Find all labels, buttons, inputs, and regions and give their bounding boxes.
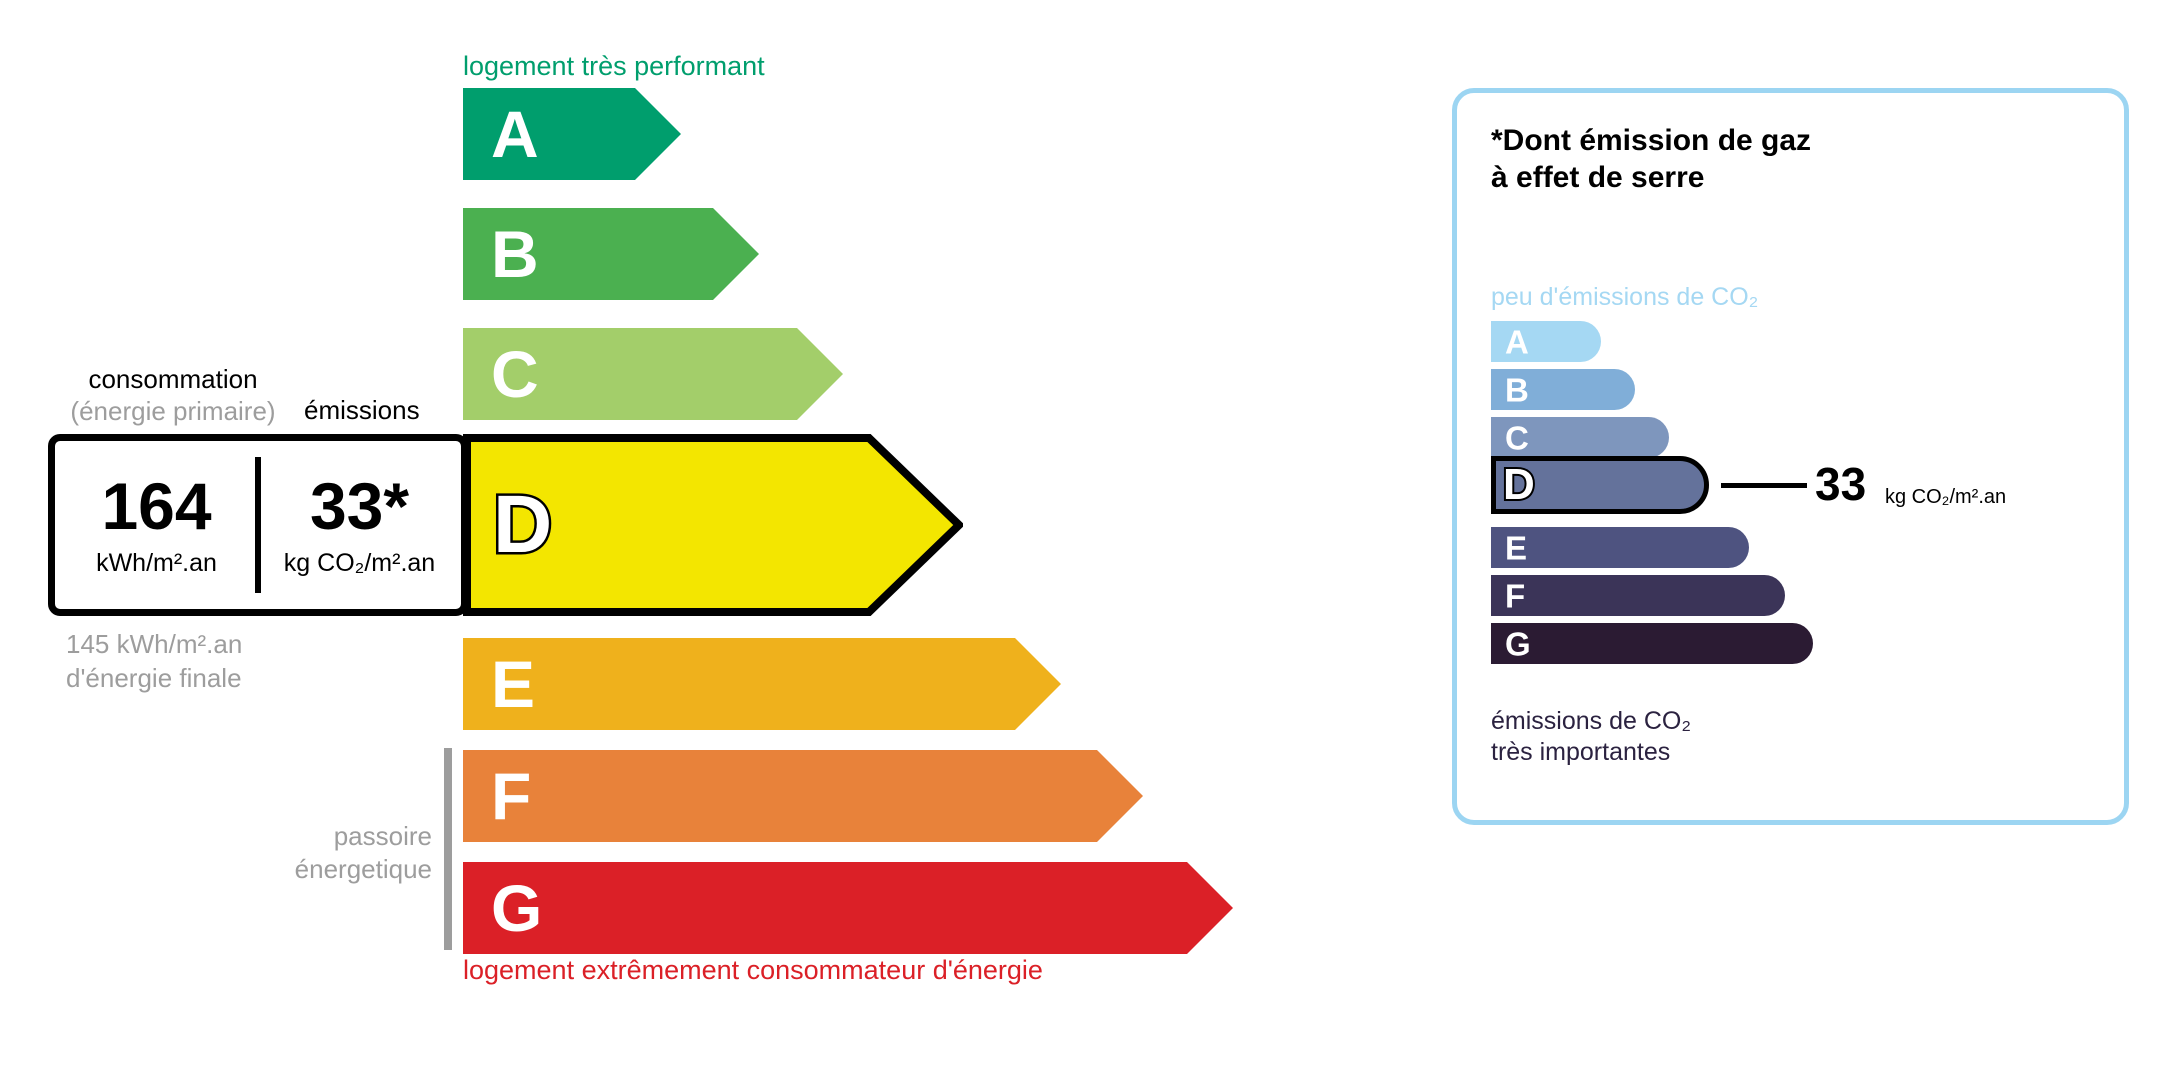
energy-class-letter-e: E xyxy=(491,651,535,717)
co2-bar-g xyxy=(1491,623,1813,664)
passoire-label-line1: passoire xyxy=(170,820,432,853)
co2-callout-unit: kg CO₂/m².an xyxy=(1885,486,2006,509)
co2-class-row-b[interactable]: B xyxy=(1491,369,1635,410)
result-value-box: 164 kWh/m².an 33* kg CO₂/m².an xyxy=(48,434,468,616)
energy-class-row-f[interactable]: F xyxy=(463,750,1143,842)
consumption-result-cell: 164 kWh/m².an xyxy=(55,441,258,609)
consumption-header-sub: (énergie primaire) xyxy=(48,396,298,428)
energy-arrow-e: E xyxy=(463,638,1061,730)
co2-class-letter-d: D xyxy=(1503,463,1535,507)
co2-top-legend: peu d'émissions de CO₂ xyxy=(1491,283,1758,312)
emissions-value: 33* xyxy=(310,473,409,539)
energy-class-row-c[interactable]: C xyxy=(463,328,843,420)
co2-panel-title: *Dont émission de gaz à effet de serre xyxy=(1491,123,1811,196)
co2-class-row-e[interactable]: E xyxy=(1491,527,1749,568)
co2-bar-e xyxy=(1491,527,1749,568)
co2-class-letter-e: E xyxy=(1505,531,1527,564)
energy-class-row-b[interactable]: B xyxy=(463,208,759,300)
co2-class-row-a[interactable]: A xyxy=(1491,321,1601,362)
emissions-unit: kg CO₂/m².an xyxy=(284,549,435,578)
co2-class-letter-c: C xyxy=(1505,421,1529,454)
co2-emissions-panel: *Dont émission de gaz à effet de serre p… xyxy=(1452,88,2129,825)
final-energy-note: 145 kWh/m².an d'énergie finale xyxy=(66,628,242,696)
co2-class-letter-a: A xyxy=(1505,325,1529,358)
emissions-result-cell: 33* kg CO₂/m².an xyxy=(258,441,461,609)
energy-bottom-legend: logement extrêmement consommateur d'éner… xyxy=(463,955,1043,986)
final-energy-line2: d'énergie finale xyxy=(66,662,242,696)
energy-class-row-a[interactable]: A xyxy=(463,88,681,180)
energy-arrow-shape-g xyxy=(463,862,1233,954)
energy-class-letter-d: D xyxy=(493,484,552,566)
co2-callout-connector xyxy=(1721,483,1807,488)
energy-arrow-d: D xyxy=(463,434,963,616)
co2-bottom-legend-line2: très importantes xyxy=(1491,737,1691,768)
energy-class-row-g[interactable]: G xyxy=(463,862,1233,954)
co2-title-line1: *Dont émission de gaz xyxy=(1491,123,1811,160)
co2-class-letter-f: F xyxy=(1505,579,1525,612)
energy-class-letter-b: B xyxy=(491,221,539,287)
co2-bottom-legend: émissions de CO₂ très importantes xyxy=(1491,706,1691,769)
consumption-header: consommation (énergie primaire) xyxy=(48,364,298,427)
co2-class-row-g[interactable]: G xyxy=(1491,623,1813,664)
energy-class-letter-c: C xyxy=(491,341,539,407)
co2-class-row-c[interactable]: C xyxy=(1491,417,1669,458)
energy-arrow-shape-f xyxy=(463,750,1143,842)
co2-bar-f xyxy=(1491,575,1785,616)
co2-title-line2: à effet de serre xyxy=(1491,160,1811,197)
energy-arrow-g: G xyxy=(463,862,1233,954)
energy-class-letter-g: G xyxy=(491,875,542,941)
energy-arrow-c: C xyxy=(463,328,843,420)
energy-arrow-a: A xyxy=(463,88,681,180)
energy-performance-panel: logement très performant A B C D xyxy=(0,0,1400,1079)
co2-class-row-d-selected[interactable]: D xyxy=(1491,456,1709,514)
co2-class-letter-b: B xyxy=(1505,373,1529,406)
final-energy-line1: 145 kWh/m².an xyxy=(66,628,242,662)
co2-callout-value: 33 xyxy=(1815,461,1866,507)
energy-arrow-f: F xyxy=(463,750,1143,842)
energy-arrow-shape-e xyxy=(463,638,1061,730)
consumption-header-main: consommation xyxy=(88,364,257,394)
co2-class-letter-g: G xyxy=(1505,627,1531,660)
consumption-value: 164 xyxy=(101,473,211,539)
passoire-bracket xyxy=(444,748,452,950)
energy-arrow-b: B xyxy=(463,208,759,300)
consumption-unit: kWh/m².an xyxy=(96,549,217,578)
passoire-label: passoire énergetique xyxy=(170,820,432,887)
energy-class-row-e[interactable]: E xyxy=(463,638,1061,730)
passoire-label-line2: énergetique xyxy=(170,853,432,886)
co2-bottom-legend-line1: émissions de CO₂ xyxy=(1491,706,1691,737)
energy-top-legend: logement très performant xyxy=(463,51,765,82)
energy-class-letter-a: A xyxy=(491,101,539,167)
co2-class-row-f[interactable]: F xyxy=(1491,575,1785,616)
emissions-header: émissions xyxy=(304,395,420,427)
energy-class-letter-f: F xyxy=(491,763,531,829)
energy-class-row-d-selected[interactable]: D xyxy=(463,434,963,616)
